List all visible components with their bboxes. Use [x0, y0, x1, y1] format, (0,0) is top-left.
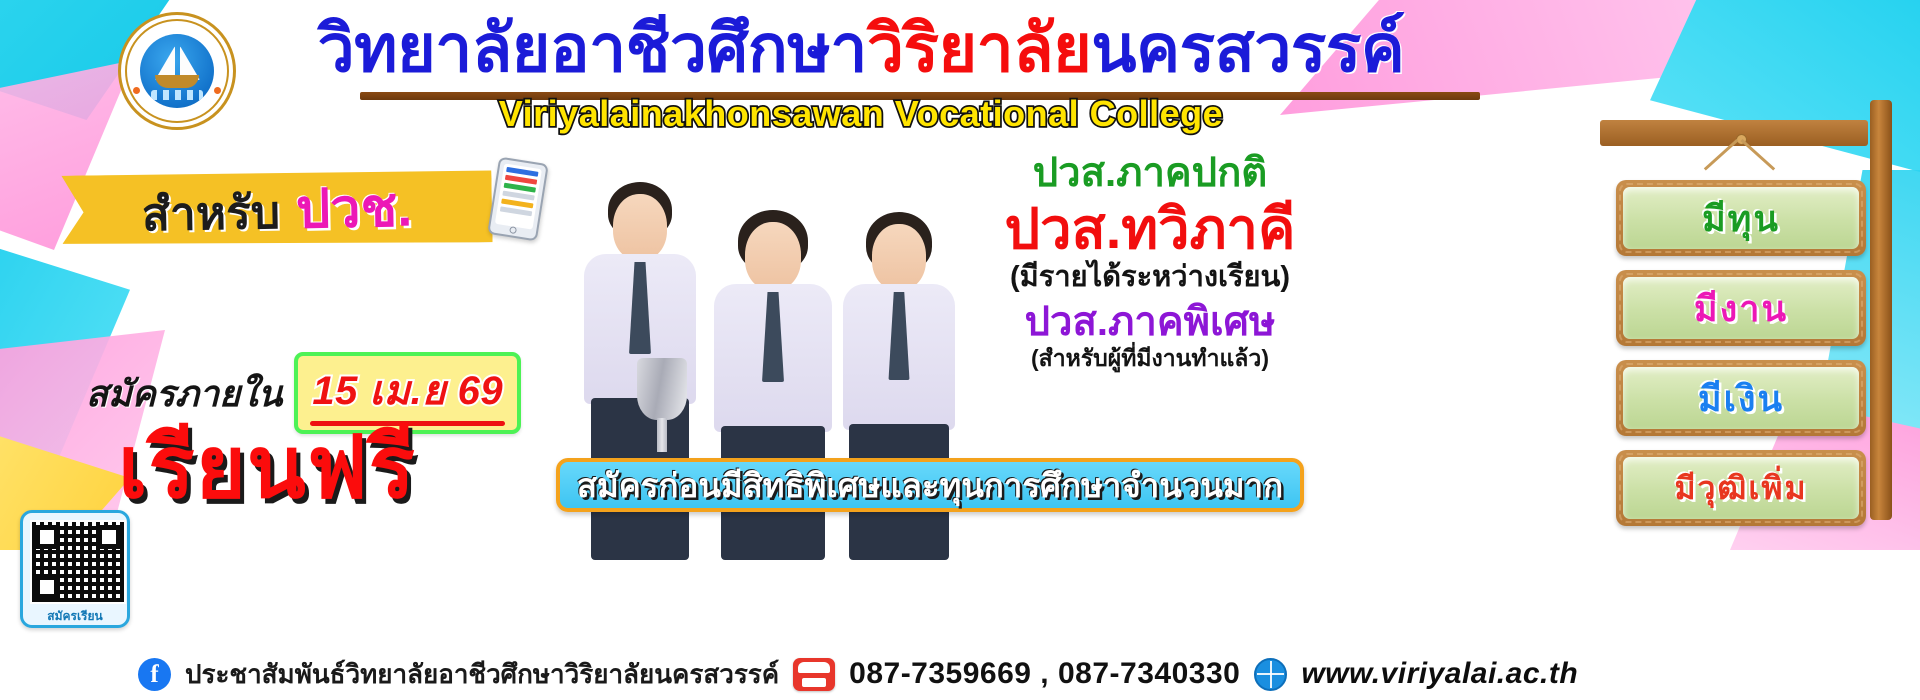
- college-seal-logo: [118, 12, 236, 130]
- ribbon-prefix-label: สำหรับ: [141, 176, 280, 251]
- level-ribbon-banner: สำหรับ ปวช.: [61, 168, 492, 249]
- signboard-post: [1870, 100, 1892, 520]
- student-head: [872, 224, 926, 290]
- tablet-screen: [495, 163, 542, 229]
- hanging-signboard: มีทุน มีงาน มีเงิน มีวุฒิเพิ่ม: [1600, 100, 1900, 520]
- course-item-special: ปวส.ภาคพิเศษ: [960, 301, 1340, 344]
- website-url[interactable]: www.viriyalai.ac.th: [1301, 657, 1578, 691]
- promotion-callout-bar: สมัครก่อนมีสิทธิพิเศษและทุนการศึกษาจำนวน…: [556, 458, 1304, 512]
- course-item-special-note: (สำหรับผู้ที่มีงานทำแล้ว): [960, 346, 1340, 371]
- qr-caption-label: สมัครเรียน: [30, 607, 120, 626]
- tablet-device-icon: [487, 157, 549, 242]
- facebook-icon[interactable]: f: [138, 658, 171, 691]
- trophy-cup: [637, 358, 687, 420]
- tablet-home-button: [509, 226, 517, 234]
- signboard-label-3: มีเงิน: [1698, 370, 1784, 427]
- course-item-dual-note: (มีรายได้ระหว่างเรียน): [960, 262, 1340, 293]
- boat-hull-icon: [155, 75, 199, 88]
- qr-code-icon[interactable]: [30, 520, 126, 604]
- phone-numbers: 087-7359669 , 087-7340330: [849, 657, 1240, 691]
- signboard-plank-4: มีวุฒิเพิ่ม: [1616, 450, 1866, 526]
- title-part-1: วิทยาลัยอาชีวศึกษา: [318, 11, 867, 85]
- globe-icon: [1254, 658, 1287, 691]
- wave-icon: [151, 90, 203, 100]
- qr-finder-top-right: [97, 525, 121, 549]
- seal-outer-ring: [125, 19, 229, 123]
- trophy-stem: [657, 418, 667, 452]
- signboard-plank-3: มีเงิน: [1616, 360, 1866, 436]
- seal-emblem: [140, 34, 214, 108]
- signboard-label-2: มีงาน: [1694, 280, 1788, 337]
- free-study-headline: เรียนฟรี: [118, 398, 416, 535]
- contact-footer: f ประชาสัมพันธ์วิทยาลัยอาชีวศึกษาวิริยาล…: [0, 648, 1920, 700]
- promotion-text: สมัครก่อนมีสิทธิพิเศษและทุนการศึกษาจำนวน…: [577, 459, 1283, 512]
- signboard-label-1: มีทุน: [1702, 190, 1780, 247]
- telephone-icon: [793, 658, 835, 691]
- course-item-dual: ปวส.ทวิภาคี: [960, 199, 1340, 259]
- student-head: [613, 194, 667, 260]
- title-part-3: นครสวรรค์: [1091, 11, 1404, 85]
- seal-dot-right: [214, 87, 221, 94]
- title-part-2: วิริยาลัย: [867, 11, 1091, 85]
- student-head: [745, 222, 801, 290]
- promotional-banner: วิทยาลัยอาชีวศึกษาวิริยาลัยนครสวรรค์ Vir…: [0, 0, 1920, 700]
- course-offerings-list: ปวส.ภาคปกติ ปวส.ทวิภาคี (มีรายได้ระหว่าง…: [960, 152, 1340, 371]
- qr-finder-top-left: [35, 525, 59, 549]
- seal-dot-left: [133, 87, 140, 94]
- signboard-plank-2: มีงาน: [1616, 270, 1866, 346]
- page-subtitle-english: Viriyalainakhonsawan Vocational College: [236, 93, 1486, 135]
- course-item-normal: ปวส.ภาคปกติ: [960, 152, 1340, 195]
- signboard-plank-1: มีทุน: [1616, 180, 1866, 256]
- qr-application-card[interactable]: สมัครเรียน: [20, 510, 130, 628]
- qr-finder-bottom-left: [35, 575, 59, 599]
- facebook-page-name: ประชาสัมพันธ์วิทยาลัยอาชีวศึกษาวิริยาลัย…: [185, 654, 779, 695]
- signboard-label-4: มีวุฒิเพิ่ม: [1674, 463, 1807, 514]
- ribbon-level-label: ปวช.: [295, 164, 413, 252]
- page-title: วิทยาลัยอาชีวศึกษาวิริยาลัยนครสวรรค์: [236, 8, 1486, 89]
